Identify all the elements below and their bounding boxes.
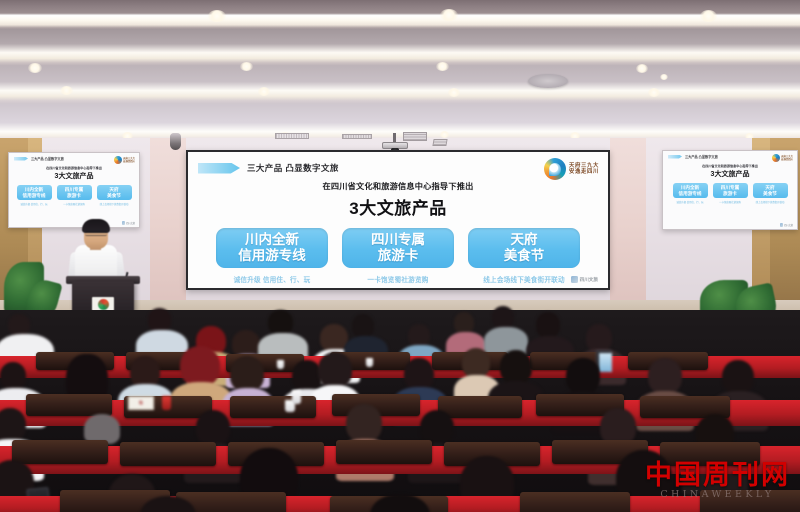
seat-back — [26, 394, 112, 416]
mini-left-kicker: 在四川省文化和旅游信息中心指导下推出 — [14, 165, 134, 170]
seat-back — [12, 440, 108, 464]
mini-left-card-2-line2: 旅游卡 — [67, 193, 81, 199]
side-display-left[interactable]: 三大产品 凸显数字文旅 天府三九大 安逸走四川 在四川省文化和旅游信息中心指导下… — [8, 152, 140, 228]
nameplate-text: 社 — [139, 400, 143, 406]
ceiling-camera-icon — [170, 133, 181, 150]
seat-back — [120, 442, 216, 466]
slide-corner-badge: 四川文旅 — [571, 276, 598, 283]
mini-left-cap-3: 线上会场线下美食街开联动 — [97, 202, 132, 206]
ceiling-vent-grille-1 — [275, 133, 309, 139]
mini-left-logo-calligraphy: 天府三九大 安逸走四川 — [123, 157, 135, 163]
seat-back — [336, 440, 432, 464]
mini-right-brand-logo: 天府三九大 安逸走四川 — [772, 154, 793, 162]
mini-left-badge-text: 四川文旅 — [126, 221, 135, 225]
screenshot-scene: 三大产品 凸显数字文旅 天府三九大 安逸走四川 在四川省文化和旅游信息中心指导下… — [0, 0, 800, 512]
slide-kicker: 在四川省文化和旅游信息中心指导下推出 — [198, 180, 598, 192]
side-display-right[interactable]: 三大产品 凸显数字文旅 天府三九大 安逸走四川 在四川省文化和旅游信息中心指导下… — [662, 150, 798, 230]
ceiling-vent-grille-2 — [342, 134, 372, 139]
mini-right-card-2: 四川专属 旅游卡 — [713, 183, 748, 198]
seat-back — [660, 442, 760, 466]
swirl-logo-icon — [544, 158, 566, 180]
seat-back — [700, 490, 800, 512]
mini-right-cap-2: 一卡饱览蜀社游览购 — [713, 200, 748, 204]
mini-right-banner-text: 三大产品 凸显数字文旅 — [685, 154, 718, 159]
seat-back — [438, 396, 522, 418]
mini-right-logo-calligraphy: 天府三九大 安逸走四川 — [781, 155, 793, 161]
wall-pink-left — [150, 138, 186, 318]
mini-right-title: 3大文旅产品 — [668, 169, 792, 179]
mini-left-title: 3大文旅产品 — [14, 171, 134, 181]
product-card-3-line1: 天府 — [511, 232, 538, 248]
mini-left-badge: 四川文旅 — [122, 221, 135, 225]
mini-right-badge-text: 四川文旅 — [784, 223, 793, 227]
mini-right-card-1-line2: 信用游专线 — [679, 191, 702, 197]
mini-left-cal-2: 安逸走四川 — [123, 160, 135, 163]
product-card-2-caption: 一卡饱览蜀社游览购 — [342, 274, 454, 284]
mini-right-cap-3: 线上会场线下美食街开联动 — [753, 200, 788, 204]
audience-area: 社 — [0, 310, 800, 512]
presentation-screen[interactable]: 三大产品 凸显数字文旅 天府三九大 安逸走四川 在四川省文化和旅游信息中心指导下… — [186, 150, 610, 290]
product-caption-row: 诚信升级 信用住、行、玩 一卡饱览蜀社游览购 线上会场线下美食街开联动 — [198, 274, 598, 284]
logo-calligraphy: 天府三九大 安逸走四川 — [569, 163, 599, 176]
mini-left-cap-2: 一卡饱览蜀社游览购 — [57, 202, 92, 206]
product-card-row: 川内全新 信用游专线 四川专属 旅游卡 天府 美食节 — [198, 228, 598, 268]
cup — [277, 360, 284, 369]
thermos — [162, 396, 171, 410]
slide-badge-text: 四川文旅 — [580, 277, 598, 283]
seat-back — [230, 396, 316, 418]
mini-right-cap-1: 诚信升级 信用住、行、玩 — [673, 200, 708, 204]
mini-left-chevron-icon — [14, 157, 28, 161]
podium-emblem-icon — [98, 299, 109, 310]
mini-left-card-3: 天府 美食节 — [97, 185, 132, 200]
mini-right-badge-mark-icon — [780, 223, 784, 227]
product-card-1-line2: 信用游专线 — [238, 248, 306, 264]
logo-calligraphy-line2: 安逸走四川 — [569, 169, 599, 175]
mini-right-kicker: 在四川省文化和旅游信息中心指导下推出 — [668, 163, 792, 168]
product-card-3-line2: 美食节 — [504, 248, 545, 264]
mini-left-cap-1: 诚信升级 信用住、行、玩 — [17, 202, 52, 206]
mini-right-card-1: 川内全新 信用游专线 — [673, 183, 708, 198]
chevron-right-icon — [198, 163, 240, 174]
product-card-2[interactable]: 四川专属 旅游卡 — [342, 228, 454, 268]
product-card-3-caption: 线上会场线下美食街开联动 — [468, 274, 580, 284]
slide-title: 3大文旅产品 — [198, 194, 598, 219]
mini-left-brand-logo: 天府三九大 安逸走四川 — [114, 156, 135, 164]
podium-emblem — [92, 297, 114, 311]
mini-left-card-1: 川内全新 信用游专线 — [17, 185, 52, 200]
mini-left-banner-text: 三大产品 凸显数字文旅 — [31, 156, 64, 161]
seat-back — [520, 492, 630, 512]
product-card-1-line1: 川内全新 — [245, 232, 299, 248]
mini-left-card-1-line2: 信用游专线 — [23, 193, 46, 199]
brand-logo: 天府三九大 安逸走四川 — [544, 158, 599, 180]
mini-right-card-row: 川内全新 信用游专线 四川专属 旅游卡 天府 美食节 — [668, 183, 792, 198]
speaker-glasses-icon — [85, 231, 107, 236]
ceiling-vent-grille-3 — [403, 132, 427, 141]
mini-right-chevron-icon — [668, 155, 682, 159]
slide-banner: 三大产品 凸显数字文旅 — [198, 162, 598, 174]
ceiling — [0, 0, 800, 146]
wall-pink-right — [610, 138, 646, 318]
nameplate: 社 — [128, 396, 154, 410]
mini-right-badge: 四川文旅 — [780, 223, 793, 227]
mini-left-badge-mark-icon — [122, 221, 126, 225]
mini-left-caption-row: 诚信升级 信用住、行、玩 一卡饱览蜀社游览购 线上会场线下美食街开联动 — [14, 202, 134, 206]
mini-left-swirl-logo-icon — [114, 156, 122, 164]
mini-left-card-row: 川内全新 信用游专线 四川专属 旅游卡 天府 美食节 — [14, 185, 134, 200]
ceiling-vent-grille-4 — [432, 139, 447, 146]
cup — [366, 358, 373, 367]
badge-mark-icon — [571, 276, 578, 283]
mini-right-card-2-line2: 旅游卡 — [723, 191, 737, 197]
mini-left-card-3-line2: 美食节 — [107, 193, 121, 199]
mini-right-card-3-line2: 美食节 — [763, 191, 777, 197]
product-card-2-line2: 旅游卡 — [378, 248, 419, 264]
product-card-1[interactable]: 川内全新 信用游专线 — [216, 228, 328, 268]
product-card-1-caption: 诚信升级 信用住、行、玩 — [216, 274, 328, 284]
mini-right-cal-2: 安逸走四川 — [781, 158, 793, 161]
product-card-2-line1: 四川专属 — [371, 232, 425, 248]
product-card-3[interactable]: 天府 美食节 — [468, 228, 580, 268]
mini-right-swirl-logo-icon — [772, 154, 780, 162]
slide-banner-text: 三大产品 凸显数字文旅 — [247, 162, 339, 174]
cup — [292, 390, 301, 404]
mini-right-card-3: 天府 美食节 — [753, 183, 788, 198]
mini-right-caption-row: 诚信升级 信用住、行、玩 一卡饱览蜀社游览购 线上会场线下美食街开联动 — [668, 200, 792, 204]
mini-left-card-2: 四川专属 旅游卡 — [57, 185, 92, 200]
